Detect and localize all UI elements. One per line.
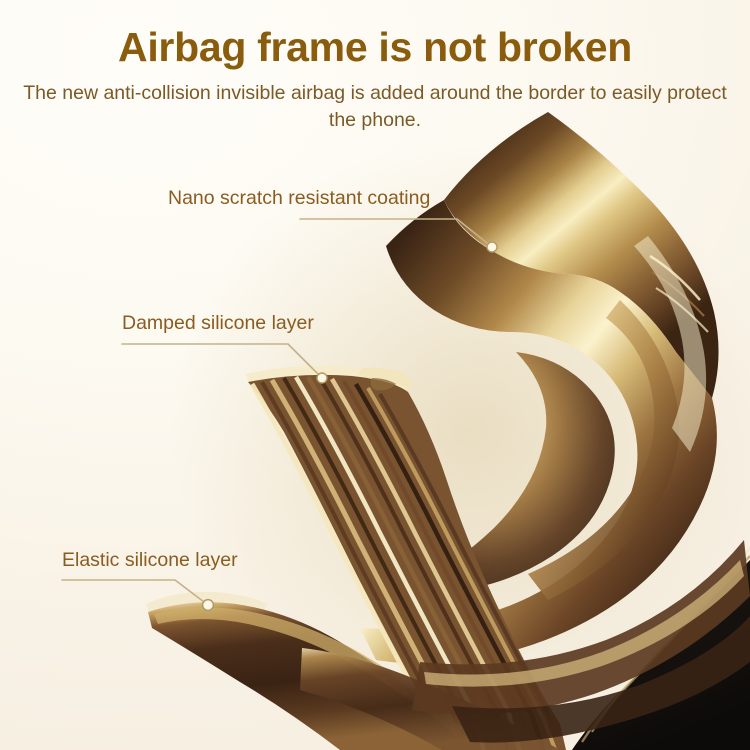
callout-label-damped-silicone: Damped silicone layer xyxy=(122,311,314,335)
page-subtitle: The new anti-collision invisible airbag … xyxy=(8,80,742,134)
product-image-canvas: Airbag frame is not broken The new anti-… xyxy=(0,0,750,750)
callout-label-nano-coating: Nano scratch resistant coating xyxy=(168,186,430,210)
subtitle-line-1: The new anti-collision invisible airbag … xyxy=(23,82,661,104)
page-title: Airbag frame is not broken xyxy=(0,24,750,70)
callout-label-elastic-silicone: Elastic silicone layer xyxy=(62,548,238,572)
